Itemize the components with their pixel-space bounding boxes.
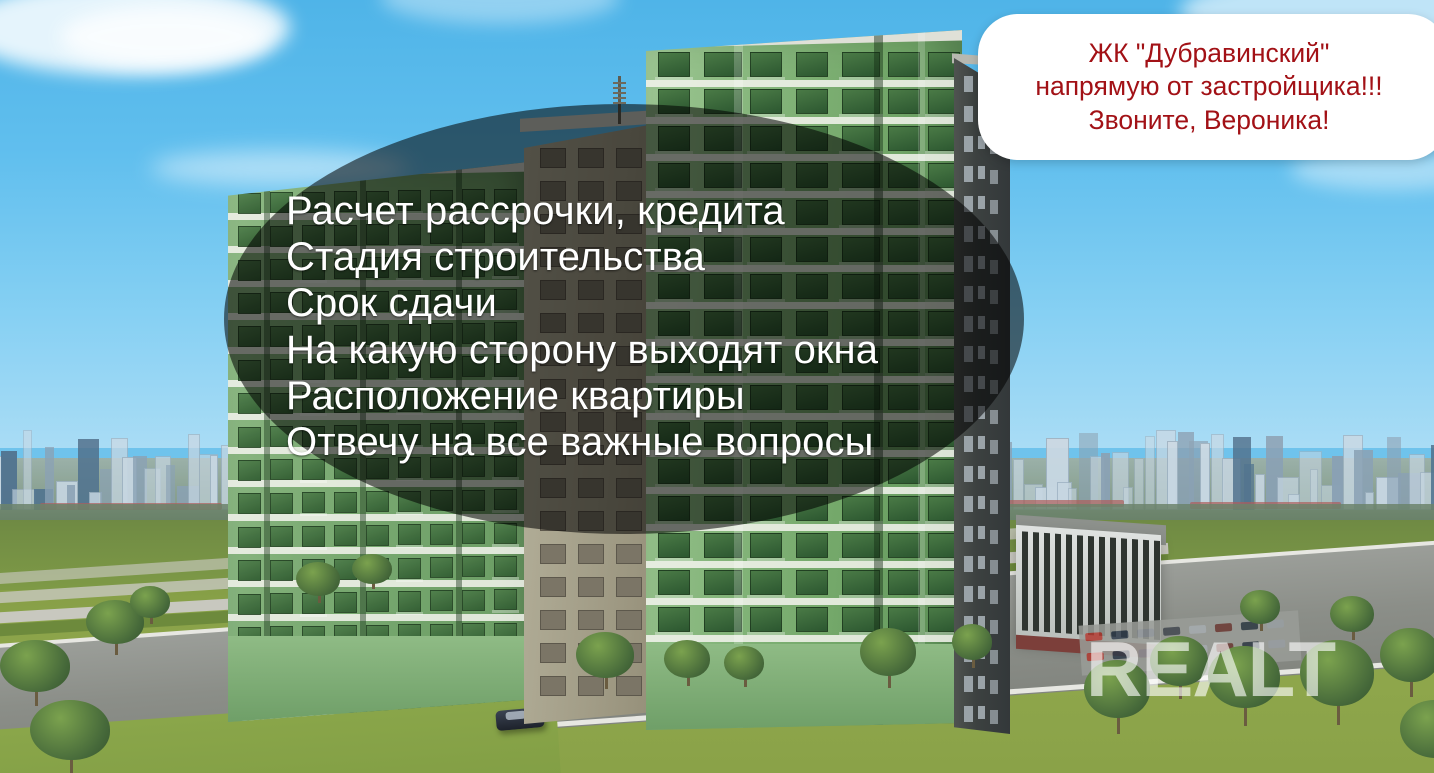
window [238, 560, 261, 581]
cloud [380, 0, 620, 24]
callout-bubble: ЖК "Дубравинский" напрямую от застройщик… [978, 14, 1434, 160]
floor-band [228, 614, 528, 621]
window [578, 610, 604, 630]
skyline-block [1134, 458, 1144, 510]
overlay-bullet-list: Расчет рассрочки, кредита Стадия строите… [286, 188, 1016, 465]
tree [1330, 596, 1374, 632]
window [462, 523, 485, 544]
window [750, 52, 782, 77]
facade-fin [1033, 532, 1039, 631]
window [964, 466, 973, 482]
window [750, 89, 782, 114]
window [540, 676, 566, 696]
window [964, 106, 973, 122]
window [616, 544, 642, 564]
balcony-rail [747, 77, 785, 80]
window [540, 610, 566, 630]
window [238, 427, 261, 448]
balcony-rail [655, 558, 693, 561]
window [990, 560, 998, 574]
facade-fin [1022, 531, 1028, 630]
window [796, 570, 828, 595]
bullet-item: Расположение квартиры [286, 373, 1016, 419]
bullet-item: На какую сторону выходят окна [286, 327, 1016, 373]
window [978, 586, 985, 599]
balcony-rail [396, 712, 423, 715]
window [990, 470, 998, 484]
balcony-rail [300, 480, 327, 483]
skyline-block [45, 447, 54, 510]
window [990, 650, 998, 664]
window [302, 492, 325, 513]
balcony-rail [396, 545, 423, 548]
skyline-block [1200, 443, 1210, 510]
window [578, 577, 604, 597]
window [964, 556, 973, 572]
window [978, 706, 985, 719]
balcony-rail [655, 77, 693, 80]
window [366, 525, 389, 546]
bullet-item: Отвечу на все важные вопросы [286, 419, 1016, 465]
window [658, 607, 690, 632]
window [964, 166, 973, 182]
balcony-rail [492, 577, 519, 580]
balcony-rail [747, 558, 785, 561]
window [398, 558, 421, 579]
window [398, 591, 421, 612]
callout-line: Звоните, Вероника! [1035, 104, 1382, 138]
window [888, 533, 920, 558]
floor-band [646, 598, 962, 605]
window [750, 533, 782, 558]
tree [1240, 590, 1280, 624]
window [990, 710, 998, 724]
window [366, 591, 389, 612]
window [978, 556, 985, 569]
facade-fin [1066, 534, 1072, 633]
tree [860, 628, 916, 676]
window [398, 524, 421, 545]
window [964, 496, 973, 512]
window [238, 460, 261, 481]
window [990, 500, 998, 514]
window [238, 527, 261, 548]
window [978, 496, 985, 509]
window [334, 492, 357, 513]
facade-fin [1044, 533, 1050, 632]
tree [296, 562, 340, 596]
window [616, 676, 642, 696]
window [658, 570, 690, 595]
window [578, 544, 604, 564]
facade-fin [1055, 534, 1061, 633]
window [750, 570, 782, 595]
tree [1380, 628, 1434, 682]
window [238, 193, 261, 214]
balcony-rail [655, 632, 693, 635]
window [540, 643, 566, 663]
window [990, 530, 998, 544]
tree [664, 640, 710, 678]
balcony-rail [300, 513, 327, 516]
balcony-rail [492, 610, 519, 613]
window [978, 166, 985, 179]
window [270, 493, 293, 514]
window [658, 533, 690, 558]
tree [576, 632, 634, 678]
window [270, 560, 293, 581]
callout-line: ЖК "Дубравинский" [1035, 37, 1382, 71]
window [658, 52, 690, 77]
window [750, 607, 782, 632]
window [238, 493, 261, 514]
balcony-rail [747, 632, 785, 635]
balcony-rail [747, 595, 785, 598]
window [616, 577, 642, 597]
tree [130, 586, 170, 618]
window [334, 525, 357, 546]
window [990, 170, 998, 184]
bullet-item: Срок сдачи [286, 280, 1016, 326]
window [270, 593, 293, 614]
window [964, 586, 973, 602]
tree [724, 646, 764, 680]
window [990, 590, 998, 604]
bullet-item: Расчет рассрочки, кредита [286, 188, 1016, 234]
tree [352, 554, 392, 584]
window [796, 607, 828, 632]
callout-line: напрямую от застройщика!!! [1035, 70, 1382, 104]
balcony-rail [396, 512, 423, 515]
window [888, 496, 920, 521]
window [888, 570, 920, 595]
window [978, 676, 985, 689]
tree [30, 700, 110, 760]
floor-band [646, 80, 962, 87]
skyline-block [23, 430, 32, 510]
window [978, 466, 985, 479]
window [302, 526, 325, 547]
window [990, 620, 998, 634]
window [494, 556, 517, 577]
window [978, 526, 985, 539]
window [964, 706, 973, 722]
balcony-rail [492, 544, 519, 547]
floor-band [646, 561, 962, 568]
window [990, 680, 998, 694]
tree [0, 640, 70, 692]
window [494, 589, 517, 610]
balcony-rail [492, 711, 519, 714]
balcony-rail [655, 595, 693, 598]
window [540, 577, 566, 597]
balcony-rail [396, 612, 423, 615]
facade-fin [1088, 536, 1094, 635]
window [462, 556, 485, 577]
listing-photo: Расчет рассрочки, кредита Стадия строите… [0, 0, 1434, 773]
window [430, 557, 453, 578]
window [334, 592, 357, 613]
window [462, 590, 485, 611]
window [430, 524, 453, 545]
balcony-rail [300, 614, 327, 617]
callout-text: ЖК "Дубравинский" напрямую от застройщик… [1027, 37, 1398, 138]
skyline-block [1145, 436, 1155, 510]
window [540, 544, 566, 564]
window [888, 89, 920, 114]
window [964, 136, 973, 152]
floor-band [228, 547, 528, 554]
window [964, 526, 973, 542]
skyline-block [210, 455, 218, 511]
tree [952, 624, 992, 660]
window [964, 76, 973, 92]
building-plinth [228, 636, 528, 722]
facade-fin [1110, 538, 1116, 637]
skyline-block [1167, 441, 1178, 510]
window [796, 52, 828, 77]
window [888, 52, 920, 77]
window [796, 533, 828, 558]
bullet-item: Стадия строительства [286, 234, 1016, 280]
window [238, 594, 261, 615]
facade-fin [1077, 535, 1083, 634]
window [796, 89, 828, 114]
window [964, 676, 973, 692]
window [430, 590, 453, 611]
balcony-rail [396, 579, 423, 582]
window [888, 126, 920, 151]
window [578, 676, 604, 696]
window [616, 610, 642, 630]
realt-watermark: REALT [1086, 630, 1335, 708]
window [366, 491, 389, 512]
window [270, 526, 293, 547]
balcony-rail [300, 547, 327, 550]
facade-fin [1099, 537, 1105, 636]
